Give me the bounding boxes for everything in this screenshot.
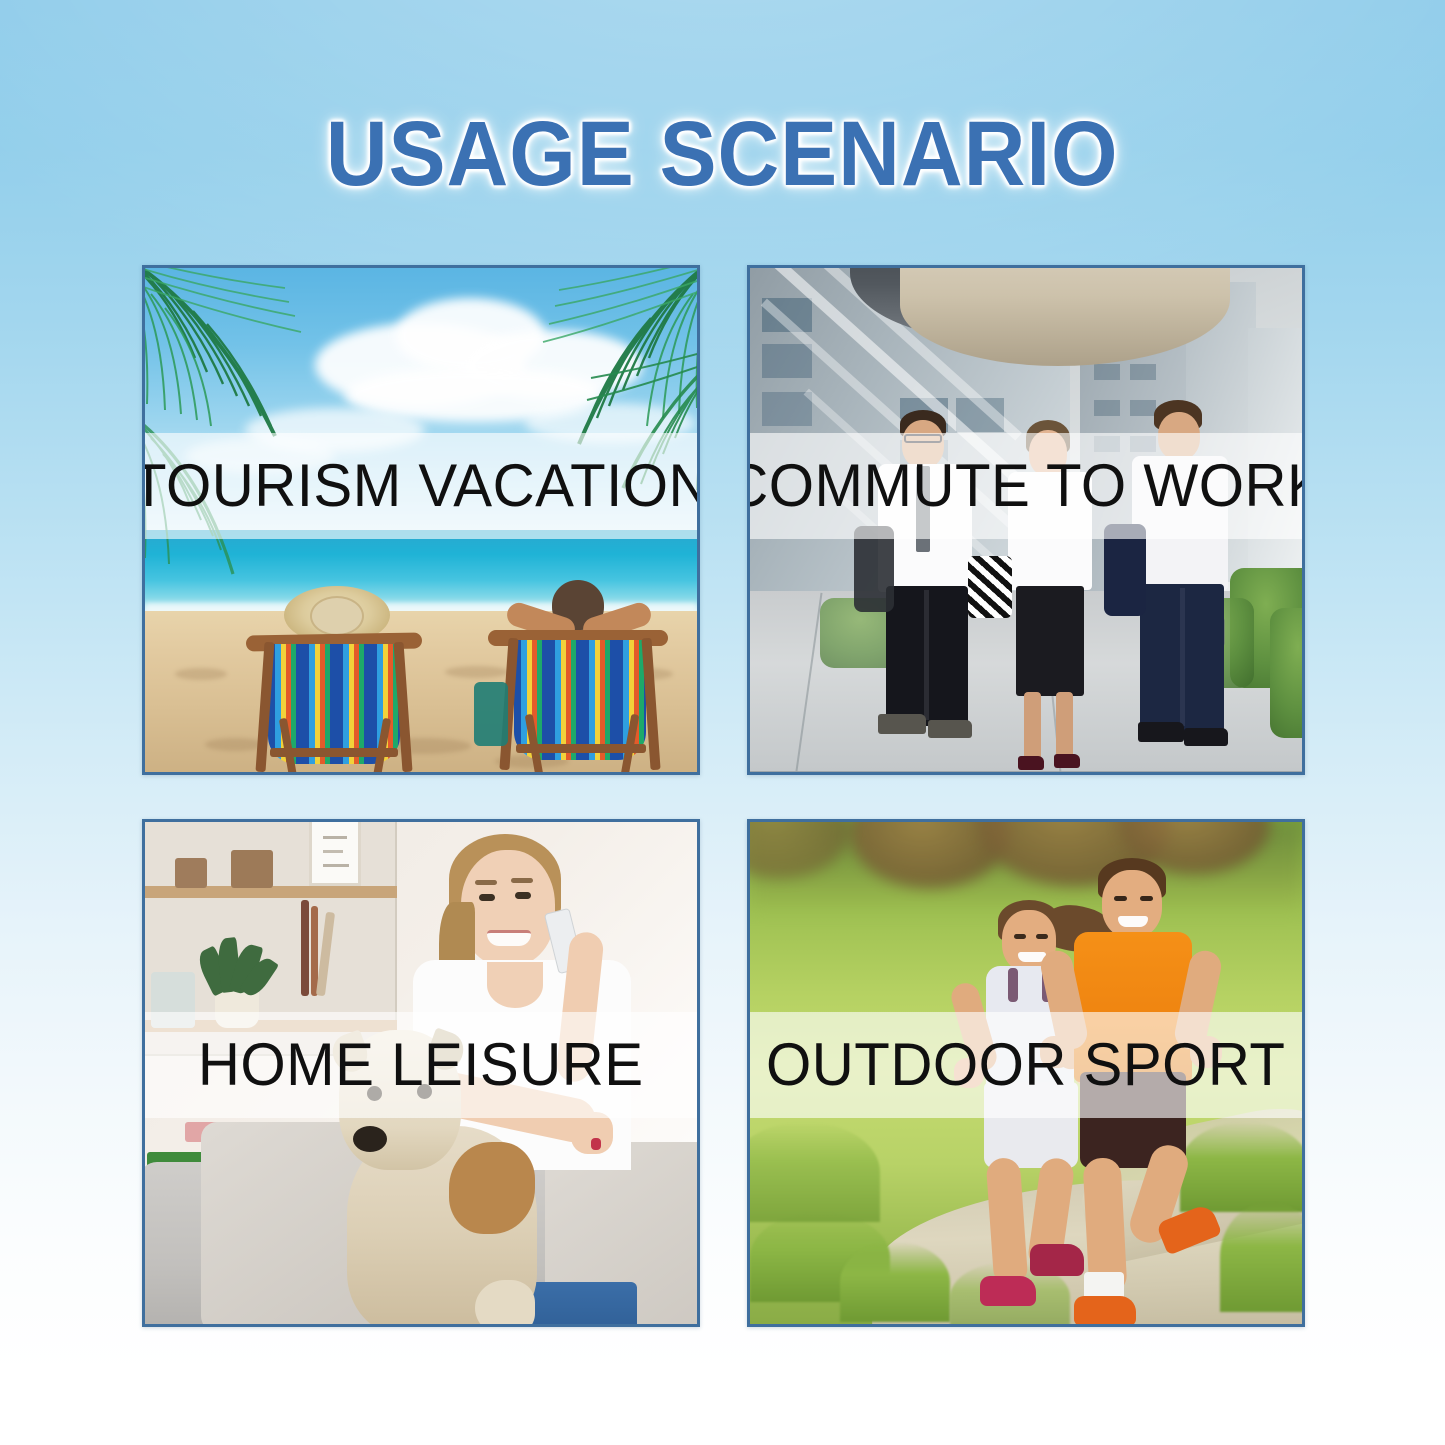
book: [301, 900, 309, 996]
frame-text: [323, 864, 349, 867]
heeled-shoe: [1018, 756, 1044, 770]
card-caption: COMMUTE TO WORK: [747, 455, 1305, 517]
page-title-block: USAGE SCENARIO: [0, 106, 1445, 202]
dog-tail: [475, 1280, 535, 1324]
head: [1102, 870, 1162, 938]
shoe: [878, 714, 926, 734]
eye: [479, 894, 495, 901]
sidewalk-seam: [750, 771, 1302, 772]
storage-box: [175, 858, 207, 888]
hedge: [1270, 608, 1302, 738]
caption-band: OUTDOOR SPORT: [750, 1012, 1302, 1118]
heeled-shoe: [1054, 754, 1080, 768]
deck-chair: [248, 598, 418, 772]
sports-bra-strap: [1008, 968, 1018, 1002]
scenario-card-commute-to-work[interactable]: COMMUTE TO WORK: [747, 265, 1305, 775]
window: [762, 344, 812, 378]
deck-chair: [490, 586, 666, 772]
card-caption: TOURISM VACATION: [142, 455, 700, 517]
window: [1094, 400, 1120, 416]
trouser-seam: [1180, 588, 1185, 726]
page-background: USAGE SCENARIO: [0, 0, 1445, 1445]
sand-texture: [175, 668, 227, 680]
card-caption: OUTDOOR SPORT: [766, 1034, 1285, 1096]
storage-box: [231, 850, 273, 888]
eye: [1036, 934, 1048, 939]
window: [1094, 364, 1120, 380]
eye: [515, 892, 531, 899]
shoe: [1184, 728, 1228, 746]
neckline: [487, 962, 543, 1008]
nail-polish: [591, 1138, 601, 1150]
smile: [1118, 916, 1148, 927]
smile: [487, 930, 531, 946]
scenario-card-home-leisure[interactable]: HOME LEISURE: [142, 819, 700, 1327]
page-title: USAGE SCENARIO: [326, 106, 1119, 202]
caption-band: COMMUTE TO WORK: [750, 433, 1302, 539]
leg: [1024, 692, 1041, 764]
window: [1130, 364, 1156, 380]
scenario-card-grid: TOURISM VACATION: [142, 265, 1305, 1327]
running-shoe: [980, 1276, 1036, 1306]
picture-frame: [309, 822, 361, 886]
window: [762, 392, 812, 426]
beach-bag: [474, 682, 508, 746]
eye: [1014, 934, 1026, 939]
grass-tuft: [840, 1242, 950, 1322]
eye: [1140, 896, 1153, 901]
eyebrow: [511, 878, 533, 883]
caption-band: HOME LEISURE: [145, 1012, 697, 1118]
dog-nose: [353, 1126, 387, 1152]
eyebrow: [475, 880, 497, 885]
frame-text: [323, 850, 343, 853]
scenario-card-tourism-vacation[interactable]: TOURISM VACATION: [142, 265, 700, 775]
caption-band: TOURISM VACATION: [145, 433, 697, 539]
striped-handbag: [968, 556, 1012, 618]
shoe: [1138, 722, 1184, 742]
card-caption: HOME LEISURE: [198, 1034, 644, 1096]
eye: [1114, 896, 1127, 901]
trouser-seam: [924, 590, 929, 720]
head: [461, 850, 555, 966]
frame-text: [323, 836, 347, 839]
skirt: [1016, 586, 1084, 696]
sun-hat-crown: [310, 596, 364, 636]
scenario-card-outdoor-sport[interactable]: OUTDOOR SPORT: [747, 819, 1305, 1327]
running-shoe: [1074, 1296, 1136, 1324]
dog-fur-patch: [449, 1142, 535, 1234]
shoe: [928, 720, 972, 738]
leg: [986, 1157, 1029, 1287]
